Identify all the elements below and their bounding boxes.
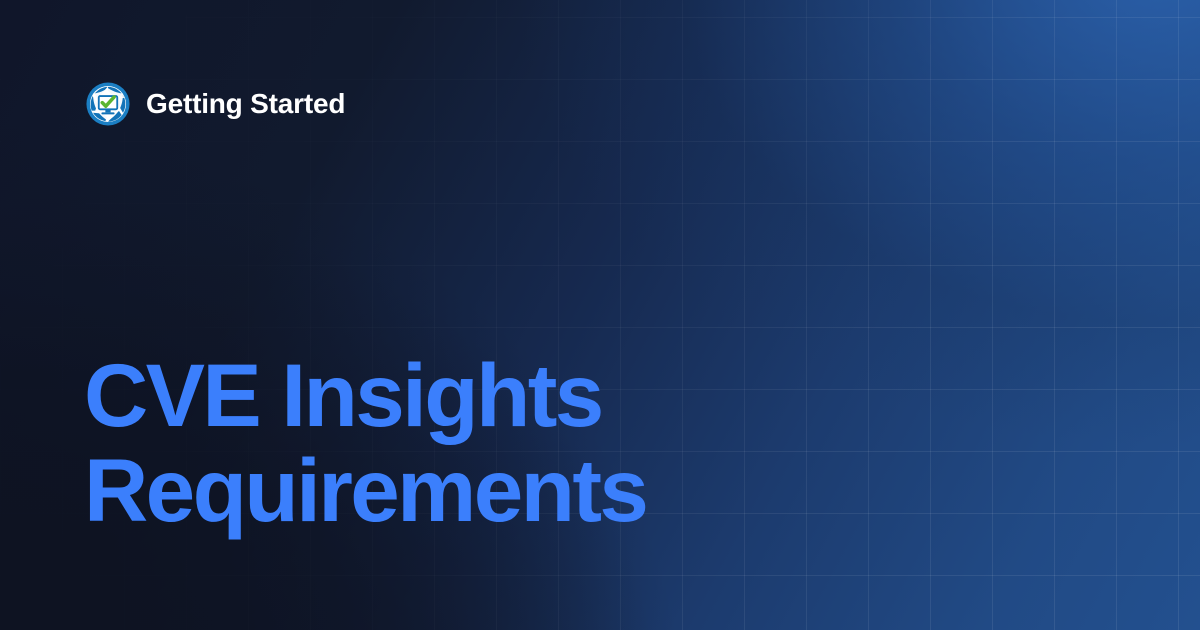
page-title-line-1: CVE Insights	[84, 348, 646, 443]
brand-row: Getting Started	[86, 82, 345, 126]
og-card: Getting Started CVE Insights Requirement…	[0, 0, 1200, 630]
shield-aperture-monitor-check-icon	[86, 82, 130, 126]
page-title-line-2: Requirements	[84, 443, 646, 538]
page-title: CVE Insights Requirements	[84, 348, 646, 538]
brand-label: Getting Started	[146, 90, 345, 118]
